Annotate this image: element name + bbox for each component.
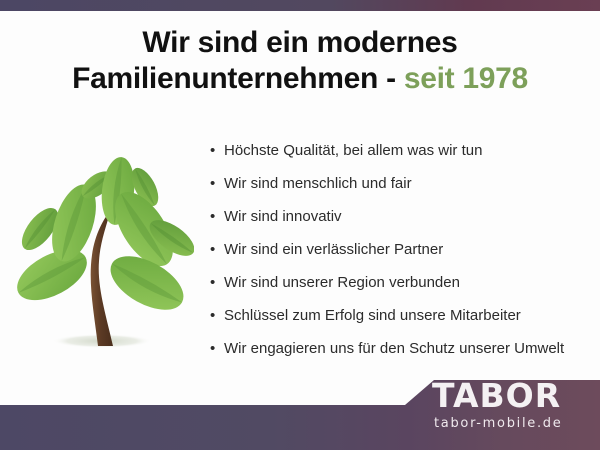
bullet-marker-icon: • <box>210 207 224 226</box>
list-item: • Wir sind ein verlässlicher Partner <box>210 240 595 273</box>
list-item: • Wir engagieren uns für den Schutz unse… <box>210 339 595 372</box>
list-item-label: Wir sind innovativ <box>224 207 595 226</box>
list-item: • Höchste Qualität, bei allem was wir tu… <box>210 141 595 174</box>
bullet-marker-icon: • <box>210 306 224 325</box>
list-item-label: Wir sind menschlich und fair <box>224 174 595 193</box>
bullet-marker-icon: • <box>210 339 224 358</box>
top-accent-bar <box>0 0 600 11</box>
list-item-label: Höchste Qualität, bei allem was wir tun <box>224 141 595 160</box>
list-item-label: Wir engagieren uns für den Schutz unsere… <box>224 339 595 358</box>
list-item-label: Schlüssel zum Erfolg sind unsere Mitarbe… <box>224 306 595 325</box>
tree-trunk <box>91 209 113 346</box>
page-title: Wir sind ein modernes Familienunternehme… <box>0 25 600 97</box>
list-item: • Wir sind menschlich und fair <box>210 174 595 207</box>
headline-line-2: Familienunternehmen - seit 1978 <box>0 61 600 97</box>
bullet-marker-icon: • <box>210 240 224 259</box>
footer-bar-shape <box>0 380 600 450</box>
bullet-marker-icon: • <box>210 141 224 160</box>
headline-line-2-plain: Familienunternehmen - <box>72 62 404 95</box>
headline-accent-year: seit 1978 <box>404 62 528 95</box>
bullet-marker-icon: • <box>210 273 224 292</box>
tree-leaves <box>14 156 194 321</box>
slide-canvas: Wir sind ein modernes Familienunternehme… <box>0 0 600 450</box>
list-item-label: Wir sind unserer Region verbunden <box>224 273 595 292</box>
footer-bar <box>0 372 600 450</box>
list-item: • Wir sind unserer Region verbunden <box>210 273 595 306</box>
list-item: • Schlüssel zum Erfolg sind unsere Mitar… <box>210 306 595 339</box>
tree-illustration <box>14 143 194 358</box>
headline-line-1: Wir sind ein modernes <box>0 25 600 61</box>
list-item-label: Wir sind ein verlässlicher Partner <box>224 240 595 259</box>
bullet-marker-icon: • <box>210 174 224 193</box>
benefits-list: • Höchste Qualität, bei allem was wir tu… <box>210 141 595 372</box>
list-item: • Wir sind innovativ <box>210 207 595 240</box>
